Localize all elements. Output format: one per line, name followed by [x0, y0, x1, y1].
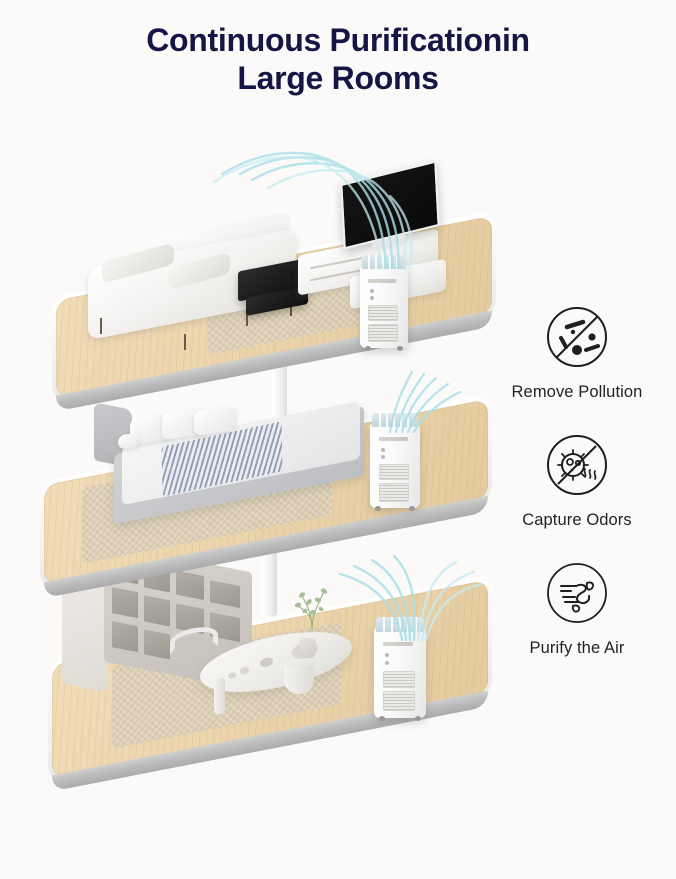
floor-dining-room: [44, 600, 496, 748]
title-line-2: Large Rooms: [0, 60, 676, 98]
infographic-stage: Continuous Purificationin Large Rooms: [0, 0, 676, 879]
germ-odor-slash-icon: [545, 433, 609, 502]
sofa-leg-1: [100, 318, 102, 334]
air-purifier-bedroom: [370, 422, 420, 508]
title-line-1: Continuous Purificationin: [0, 22, 676, 60]
dining-plant: [292, 578, 332, 640]
feature-label-remove-pollution: Remove Pollution: [478, 383, 676, 402]
air-purifier-dining: [374, 626, 426, 718]
wind-leaf-icon: [545, 561, 609, 630]
dining-table-leg-right: [284, 666, 314, 694]
page-title: Continuous Purificationin Large Rooms: [0, 22, 676, 98]
feature-list: Remove Pollution: [478, 305, 676, 689]
pollution-particles-slash-icon: [545, 305, 609, 374]
floor-bedroom: [38, 412, 502, 552]
floor-living-room: [50, 228, 502, 368]
feature-label-purify-the-air: Purify the Air: [478, 639, 676, 658]
feature-remove-pollution: Remove Pollution: [478, 305, 676, 402]
feature-label-capture-odors: Capture Odors: [478, 511, 676, 530]
dining-plant-pot: [300, 638, 316, 658]
air-purifier-living: [360, 264, 408, 348]
feature-purify-the-air: Purify the Air: [478, 561, 676, 658]
dining-table-leg-left: [214, 678, 225, 714]
feature-capture-odors: Capture Odors: [478, 433, 676, 530]
sofa-leg-2: [184, 334, 186, 350]
